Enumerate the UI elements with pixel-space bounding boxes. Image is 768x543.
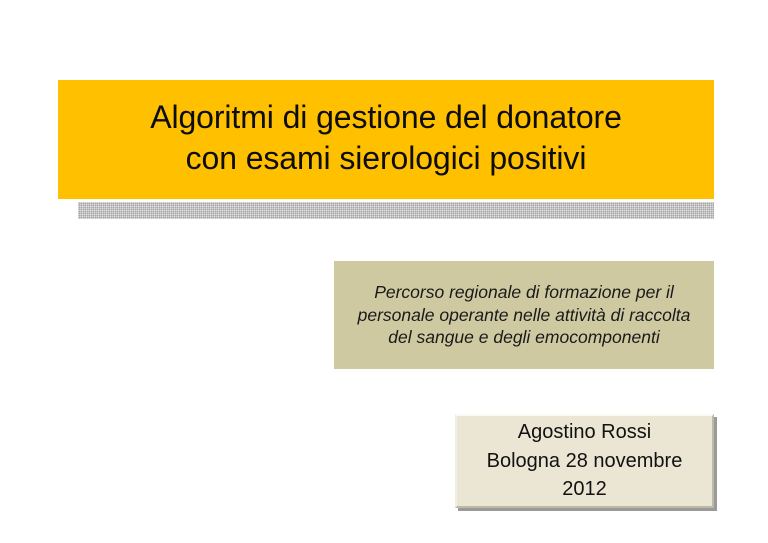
presentation-slide: Algoritmi di gestione del donatore con e… [0,0,768,543]
slide-subtitle-box: Percorso regionale di formazione per il … [334,261,714,369]
slide-author-box: Agostino Rossi Bologna 28 novembre 2012 [455,414,714,508]
slide-author-and-date: Agostino Rossi Bologna 28 novembre 2012 [465,418,704,503]
slide-subtitle: Percorso regionale di formazione per il … [350,281,698,349]
slide-title-box: Algoritmi di gestione del donatore con e… [58,80,714,199]
slide-title: Algoritmi di gestione del donatore con e… [150,97,622,178]
title-divider-bar [78,202,714,219]
